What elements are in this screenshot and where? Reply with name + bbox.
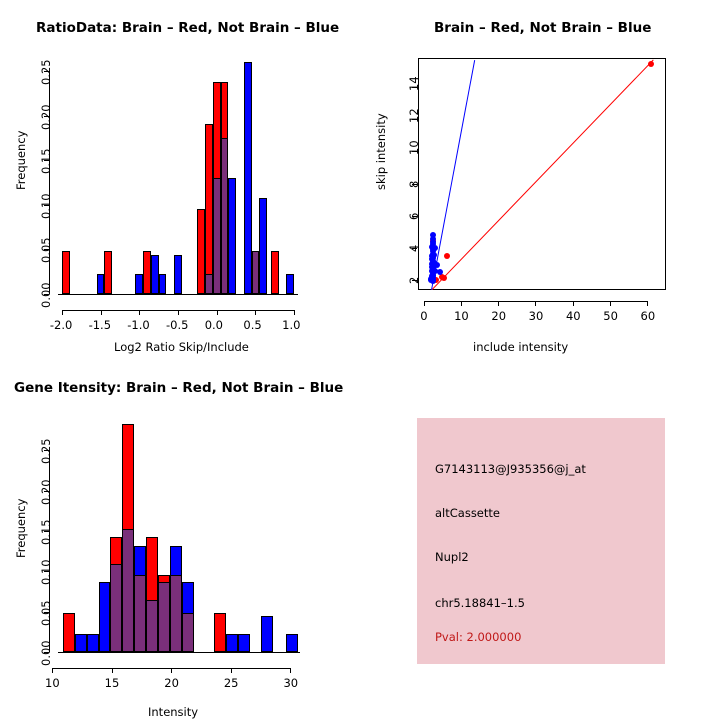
x-axis-tick-label: 0.0 <box>205 318 223 332</box>
x-axis-tick-label: 25 <box>224 676 239 690</box>
x-axis-tick <box>101 310 102 315</box>
scatter-point <box>431 252 437 258</box>
histogram-bar <box>286 274 294 294</box>
x-axis-tick-label: -0.5 <box>166 318 188 332</box>
histogram-bar <box>143 251 151 294</box>
x-axis-tick-label: 20 <box>491 309 506 323</box>
x-axis-tick-label: 50 <box>603 309 618 323</box>
y-axis-tick-label: 0.15 <box>39 519 53 545</box>
x-axis-tick-label: 0.5 <box>243 318 261 332</box>
gene-hist-ylabel: Frequency <box>14 499 28 558</box>
plot-baseline <box>58 294 298 295</box>
x-axis-tick <box>647 301 648 306</box>
x-axis-tick <box>171 668 172 673</box>
figure-canvas: RatioData: Brain – Red, Not Brain – Blue… <box>0 0 720 720</box>
y-axis-tick-label: 8 <box>407 180 421 187</box>
histogram-bar <box>63 613 75 652</box>
x-axis-tick-label: -1.5 <box>89 318 111 332</box>
x-axis-tick-label: -1.0 <box>127 318 149 332</box>
scatter-plot-area: 24681012140102030405060 <box>418 58 666 290</box>
y-axis-tick-label: 0.10 <box>39 560 53 586</box>
histogram-bar <box>238 634 250 652</box>
scatter-point <box>444 253 450 259</box>
y-axis-tick-label: 0.20 <box>39 104 53 130</box>
histogram-bar <box>226 634 238 652</box>
x-axis-tick <box>498 301 499 306</box>
scatter-point <box>431 260 437 266</box>
ratio-hist-plot-area: 0.000.050.100.150.200.25-2.0-1.5-1.0-0.5… <box>58 58 298 294</box>
histogram-bar <box>170 575 182 652</box>
histogram-bar <box>213 178 221 294</box>
histogram-bar <box>151 255 159 294</box>
scatter-xlabel: include intensity <box>473 340 568 354</box>
scatter-title: Brain – Red, Not Brain – Blue <box>434 20 651 36</box>
x-axis-tick-label: 20 <box>164 676 179 690</box>
histogram-bar <box>286 634 298 652</box>
histogram-bar <box>75 634 87 652</box>
histogram-bar <box>134 575 146 652</box>
x-axis-tick-label: 10 <box>45 676 60 690</box>
histogram-bar <box>252 251 260 294</box>
histogram-bar <box>97 274 105 294</box>
histogram-bar <box>62 251 70 294</box>
histogram-bar <box>135 274 143 294</box>
scatter-ylabel: skip intensity <box>374 113 388 190</box>
y-axis-tick-label: 12 <box>407 109 421 124</box>
histogram-bar <box>271 251 279 294</box>
y-axis-tick-label: 4 <box>407 245 421 252</box>
histogram-bar <box>259 198 267 294</box>
y-axis-tick-label: 2 <box>407 277 421 284</box>
x-axis-tick-label: 40 <box>566 309 581 323</box>
x-axis-tick-label: 1.0 <box>282 318 300 332</box>
x-axis-tick <box>255 310 256 315</box>
gene-hist-xlabel: Intensity <box>148 705 198 719</box>
x-axis-tick <box>112 668 113 673</box>
info-probe-id: G7143113@J935356@j_at <box>435 462 586 476</box>
x-axis-tick-label: 60 <box>641 309 656 323</box>
info-pval: Pval: 2.000000 <box>435 630 521 644</box>
info-event-type: altCassette <box>435 506 500 520</box>
ratio-hist-xlabel: Log2 Ratio Skip/Include <box>114 340 249 354</box>
histogram-bar <box>159 274 167 294</box>
x-axis-tick <box>217 310 218 315</box>
scatter-point <box>432 245 438 251</box>
ratio-hist-title: RatioData: Brain – Red, Not Brain – Blue <box>36 20 339 36</box>
scatter-data-layer <box>418 58 666 290</box>
x-axis-tick-label: 0 <box>420 309 427 323</box>
histogram-bar <box>214 613 226 652</box>
x-axis-tick-label: 30 <box>283 676 298 690</box>
histogram-bar <box>197 209 205 294</box>
histogram-bar <box>174 255 182 294</box>
x-axis-tick <box>424 301 425 306</box>
y-axis-tick-label: 0.00 <box>39 282 53 308</box>
info-locus: chr5.18841–1.5 <box>435 596 525 610</box>
y-axis-tick-label: 0.25 <box>39 60 53 86</box>
x-axis-tick <box>290 668 291 673</box>
y-axis-tick-label: 6 <box>407 213 421 220</box>
histogram-bar <box>122 529 134 652</box>
histogram-bar <box>146 600 158 652</box>
histogram-bar <box>182 613 194 652</box>
x-axis-tick <box>610 301 611 306</box>
scatter-fit-line-brain <box>431 60 654 290</box>
info-gene-symbol: Nupl2 <box>435 550 469 564</box>
histogram-bar <box>104 251 112 294</box>
y-axis-tick-label: 14 <box>407 76 421 91</box>
histogram-bar <box>110 564 122 652</box>
x-axis-tick-label: 15 <box>105 676 120 690</box>
x-axis-tick-label: 30 <box>529 309 544 323</box>
y-axis-tick-label: 0.25 <box>39 439 53 465</box>
histogram-bar <box>205 124 213 294</box>
histogram-bar <box>221 138 229 294</box>
y-axis-tick-label: 10 <box>407 141 421 156</box>
histogram-bar <box>261 616 273 652</box>
x-axis-tick <box>139 310 140 315</box>
y-axis-tick-label: 0.10 <box>39 193 53 219</box>
x-axis-tick <box>461 301 462 306</box>
histogram-bar <box>87 634 99 652</box>
gene-hist-plot-area: 0.000.050.100.150.200.251015202530 <box>58 422 300 652</box>
histogram-bar <box>205 274 213 294</box>
plot-baseline <box>58 652 300 653</box>
scatter-point <box>428 277 434 283</box>
ratio-hist-ylabel: Frequency <box>14 131 28 190</box>
panel-gene-histogram: Gene Itensity: Brain – Red, Not Brain – … <box>0 360 360 720</box>
scatter-point <box>432 268 438 274</box>
histogram-bar <box>158 582 170 652</box>
x-axis-tick-label: 10 <box>454 309 469 323</box>
scatter-fit-line-not-brain <box>431 60 475 290</box>
y-axis-tick-label: 0.05 <box>39 238 53 264</box>
x-axis-tick <box>62 310 63 315</box>
y-axis-tick-label: 0.15 <box>39 149 53 175</box>
y-axis-tick-label: 0.00 <box>39 640 53 666</box>
x-axis-tick <box>178 310 179 315</box>
x-axis-tick <box>573 301 574 306</box>
x-axis-tick <box>52 668 53 673</box>
x-axis-tick <box>294 310 295 315</box>
panel-probe-info: G7143113@J935356@j_at altCassette Nupl2 … <box>417 418 665 664</box>
x-axis-tick-label: -2.0 <box>50 318 72 332</box>
x-axis-tick <box>231 668 232 673</box>
panel-ratio-histogram: RatioData: Brain – Red, Not Brain – Blue… <box>0 0 360 360</box>
y-axis-tick-label: 0.05 <box>39 600 53 626</box>
scatter-point <box>648 61 654 67</box>
histogram-bar <box>244 62 252 294</box>
x-axis-tick <box>535 301 536 306</box>
panel-scatter: Brain – Red, Not Brain – Blue skip inten… <box>360 0 720 360</box>
y-axis-tick-label: 0.20 <box>39 479 53 505</box>
histogram-bar <box>228 178 236 294</box>
gene-hist-title: Gene Itensity: Brain – Red, Not Brain – … <box>14 380 343 396</box>
scatter-point <box>441 275 447 281</box>
histogram-bar <box>99 582 111 652</box>
